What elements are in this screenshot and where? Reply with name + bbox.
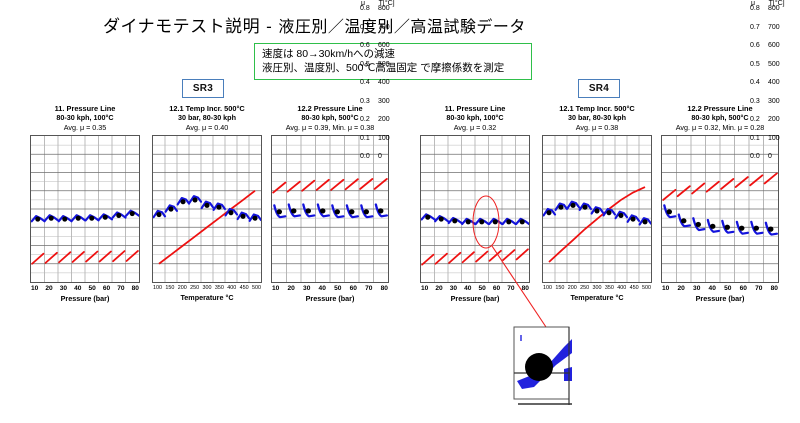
x-axis-label: Temperature °C — [542, 293, 652, 302]
temp-tick-label: 300 — [768, 98, 794, 106]
friction-data-marker — [240, 214, 245, 219]
friction-data-marker — [439, 216, 444, 221]
temperature-trace-segment — [46, 253, 57, 263]
chart-title-line-2: 30 bar, 80-30 kph — [542, 113, 652, 122]
mu-tick-label: 0.8 — [360, 5, 378, 13]
friction-data-marker — [89, 216, 94, 221]
friction-data-marker — [320, 208, 325, 213]
mu-tick-label: 0.6 — [750, 42, 768, 50]
temperature-trace-segment — [663, 190, 675, 200]
friction-data-marker — [49, 216, 54, 221]
temp-tick-label: 200 — [378, 116, 404, 124]
mu-tick-label: 0.1 — [360, 135, 378, 143]
friction-data-marker — [76, 216, 81, 221]
temp-tick-label: 800 — [768, 5, 794, 13]
chart-title-line-1: 12.1 Temp Incr. 500°C — [152, 104, 262, 113]
axis-legend-row: 0.1100 — [750, 135, 794, 143]
friction-data-marker — [425, 215, 430, 220]
mu-tick-label: 0.7 — [360, 24, 378, 32]
inset-blue-shape-secondary — [564, 367, 572, 381]
x-tick-label: 80 — [381, 285, 388, 292]
temperature-trace-segment — [73, 252, 84, 262]
chart-sr3-1: 11. Pressure Line80-30 kph, 100°CAvg. μ … — [30, 104, 140, 303]
axis-legend-row: 0.00 — [360, 153, 404, 161]
friction-data-marker — [725, 225, 730, 230]
x-tick-label: 200 — [568, 285, 577, 291]
x-axis-label: Pressure (bar) — [661, 294, 779, 303]
temperature-trace-segment — [86, 252, 97, 262]
axis-legend-rows: 0.88000.77000.66000.55000.44000.33000.22… — [360, 9, 404, 157]
temp-tick-label: 500 — [768, 61, 794, 69]
mu-tick-label: 0.3 — [750, 98, 768, 106]
temperature-trace-segment — [476, 252, 487, 262]
x-axis-ticks: 1020304050607080 — [271, 283, 389, 292]
friction-data-marker — [493, 219, 498, 224]
friction-data-marker — [506, 219, 511, 224]
temperature-trace-segment — [678, 186, 690, 196]
x-axis-label: Pressure (bar) — [420, 294, 530, 303]
x-tick-label: 500 — [252, 285, 261, 291]
x-tick-label: 450 — [240, 285, 249, 291]
mu-tick-label: 0.3 — [360, 98, 378, 106]
x-tick-label: 300 — [203, 285, 212, 291]
friction-data-marker — [364, 209, 369, 214]
friction-data-marker — [768, 227, 773, 232]
friction-data-marker — [252, 216, 257, 221]
friction-data-marker — [606, 210, 611, 215]
plot-area — [30, 135, 140, 283]
friction-data-marker — [103, 215, 108, 220]
chart-sr4-2: 12.1 Temp Incr. 500°C30 bar, 80-30 kphAv… — [542, 104, 652, 302]
x-tick-label: 50 — [89, 285, 96, 292]
x-tick-label: 30 — [60, 285, 67, 292]
temperature-trace-segment — [360, 179, 372, 189]
axis-legend-row: 0.4400 — [750, 79, 794, 87]
plot-canvas — [543, 136, 651, 282]
friction-data-marker — [180, 199, 185, 204]
friction-data-marker — [306, 208, 311, 213]
friction-data-marker — [710, 224, 715, 229]
friction-data-marker — [754, 226, 759, 231]
mu-tick-label: 0.5 — [360, 61, 378, 69]
friction-data-marker — [479, 219, 484, 224]
x-tick-label: 350 — [215, 285, 224, 291]
temperature-trace-segment — [113, 251, 124, 261]
axis-legend-row: 0.3300 — [360, 98, 404, 106]
temp-tick-label: 200 — [768, 116, 794, 124]
chart-stats: Avg. μ = 0.32 — [420, 123, 530, 133]
chart-title-line-1: 11. Pressure Line — [30, 104, 140, 113]
mu-tick-label: 0.7 — [750, 24, 768, 32]
friction-data-marker — [156, 212, 161, 217]
temperature-trace-segment — [100, 252, 111, 262]
mu-tick-label: 0.6 — [360, 42, 378, 50]
temperature-trace-segment — [375, 179, 387, 189]
friction-data-marker — [618, 213, 623, 218]
x-tick-label: 500 — [642, 285, 651, 291]
x-tick-label: 400 — [617, 285, 626, 291]
friction-data-marker — [216, 205, 221, 210]
axis-legend-row: 0.7700 — [360, 24, 404, 32]
x-tick-label: 10 — [662, 285, 669, 292]
x-tick-label: 400 — [227, 285, 236, 291]
axis-legend-row: 0.2200 — [360, 116, 404, 124]
friction-data-marker — [349, 209, 354, 214]
axis-legend-row: 0.6600 — [750, 42, 794, 50]
x-tick-label: 40 — [464, 285, 471, 292]
x-tick-label: 40 — [74, 285, 81, 292]
friction-data-marker — [681, 218, 686, 223]
axis-legend-row: 0.6600 — [360, 42, 404, 50]
temperature-trace-segment — [721, 179, 733, 189]
chart-title-line-2: 30 bar, 80-30 kph — [152, 113, 262, 122]
x-tick-label: 450 — [630, 285, 639, 291]
x-tick-label: 60 — [493, 285, 500, 292]
mu-tick-label: 0.0 — [750, 153, 768, 161]
temp-tick-label: 300 — [378, 98, 404, 106]
temp-tick-label: 100 — [378, 135, 404, 143]
axis-legend-row: 0.5500 — [360, 61, 404, 69]
slide-canvas: ダイナモテスト説明-液圧別／温度別／高温試験データ 速度は 80→30km/hへ… — [0, 0, 800, 423]
chart-header: 12.1 Temp Incr. 500°C30 bar, 80-30 kphAv… — [542, 104, 652, 133]
temperature-trace-segment — [346, 179, 358, 189]
mu-tick-label: 0.4 — [750, 79, 768, 87]
temp-tick-label: 500 — [378, 61, 404, 69]
x-tick-label: 50 — [479, 285, 486, 292]
temperature-trace-segment — [463, 252, 474, 262]
temp-tick-label: 100 — [768, 135, 794, 143]
friction-data-marker — [291, 208, 296, 213]
chart-sr4-1: 11. Pressure Line80-30 kph, 100°CAvg. μ … — [420, 104, 530, 303]
x-tick-label: 200 — [178, 285, 187, 291]
axis-legend-row: 0.7700 — [750, 24, 794, 32]
temperature-trace-segment — [765, 173, 777, 183]
x-tick-label: 60 — [350, 285, 357, 292]
friction-data-marker — [630, 216, 635, 221]
x-axis-ticks: 1020304050607080 — [420, 283, 530, 292]
x-tick-label: 40 — [319, 285, 326, 292]
brake-pad-detail-icon — [512, 325, 582, 417]
x-tick-label: 50 — [724, 285, 731, 292]
inset-hub-circle — [525, 353, 553, 381]
x-tick-label: 50 — [334, 285, 341, 292]
temperature-trace-segment — [331, 180, 343, 190]
friction-data-marker — [277, 209, 282, 214]
x-tick-label: 300 — [593, 285, 602, 291]
x-tick-label: 70 — [507, 285, 514, 292]
temperature-trace-segment — [288, 182, 300, 192]
friction-data-marker — [228, 210, 233, 215]
temperature-trace-segment — [736, 177, 748, 187]
plot-canvas — [421, 136, 529, 282]
mu-tick-label: 0.8 — [750, 5, 768, 13]
temperature-trace-segment — [59, 252, 70, 262]
temperature-trace-segment — [517, 249, 528, 259]
temp-tick-label: 800 — [378, 5, 404, 13]
mu-tick-label: 0.4 — [360, 79, 378, 87]
sample-tag-sr3: SR3 — [182, 79, 224, 98]
mu-tick-label: 0.0 — [360, 153, 378, 161]
temp-tick-label: 0 — [768, 153, 794, 161]
x-tick-label: 30 — [450, 285, 457, 292]
chart-header: 11. Pressure Line80-30 kph, 100°CAvg. μ … — [30, 104, 140, 133]
x-axis-ticks: 1020304050607080 — [661, 283, 779, 292]
x-axis-label: Pressure (bar) — [271, 294, 389, 303]
chart-header: 12.1 Temp Incr. 500°C30 bar, 80-30 kphAv… — [152, 104, 262, 133]
mu-tick-label: 0.2 — [750, 116, 768, 124]
friction-data-marker — [594, 208, 599, 213]
x-tick-label: 80 — [771, 285, 778, 292]
plot-canvas — [153, 136, 261, 282]
friction-data-marker — [546, 210, 551, 215]
friction-data-marker — [192, 197, 197, 202]
friction-data-marker — [466, 219, 471, 224]
x-axis-ticks: 100150200250300350400450500 — [152, 283, 262, 291]
friction-data-marker — [204, 203, 209, 208]
x-tick-label: 20 — [435, 285, 442, 292]
x-tick-label: 150 — [165, 285, 174, 291]
temperature-trace-segment — [436, 254, 447, 264]
chart-stats: Avg. μ = 0.40 — [152, 123, 262, 133]
temperature-trace-segment — [422, 255, 433, 265]
x-tick-label: 60 — [103, 285, 110, 292]
friction-data-marker — [168, 206, 173, 211]
x-axis-label: Pressure (bar) — [30, 294, 140, 303]
chart-title-line-1: 12.1 Temp Incr. 500°C — [542, 104, 652, 113]
x-tick-label: 350 — [605, 285, 614, 291]
axis-legend-row: 0.8800 — [750, 5, 794, 13]
x-tick-label: 250 — [580, 285, 589, 291]
friction-data-marker — [558, 205, 563, 210]
y-axis-legend-sr4: μT[°C]0.88000.77000.66000.55000.44000.33… — [750, 0, 794, 157]
x-tick-label: 100 — [543, 285, 552, 291]
temperature-trace-segment — [692, 183, 704, 193]
axis-legend-row: 0.4400 — [360, 79, 404, 87]
temperature-trace-segment — [750, 175, 762, 185]
temperature-trace-segment — [317, 180, 329, 190]
chart-title-line-1: 11. Pressure Line — [420, 104, 530, 113]
chart-stats: Avg. μ = 0.35 — [30, 123, 140, 133]
friction-data-marker — [642, 219, 647, 224]
temperature-trace — [549, 187, 645, 262]
temperature-trace-segment — [449, 253, 460, 263]
axis-legend-row: 0.3300 — [750, 98, 794, 106]
plot-area — [542, 135, 652, 283]
temperature-trace-segment — [503, 250, 514, 260]
x-tick-label: 70 — [755, 285, 762, 292]
chart-header: 11. Pressure Line80-30 kph, 100°CAvg. μ … — [420, 104, 530, 133]
friction-data-marker — [570, 203, 575, 208]
temp-tick-label: 400 — [378, 79, 404, 87]
x-axis-ticks: 1020304050607080 — [30, 283, 140, 292]
chart-title-line-2: 80-30 kph, 100°C — [30, 113, 140, 122]
friction-data-marker — [452, 218, 457, 223]
friction-data-marker — [667, 209, 672, 214]
page-title-separator: - — [260, 17, 278, 36]
friction-data-marker — [520, 219, 525, 224]
friction-data-marker — [378, 208, 383, 213]
detail-inset-diagram — [512, 325, 582, 417]
x-tick-label: 80 — [522, 285, 529, 292]
axis-legend-row: 0.2200 — [750, 116, 794, 124]
x-axis-label: Temperature °C — [152, 293, 262, 302]
temp-tick-label: 700 — [768, 24, 794, 32]
temperature-trace-segment — [127, 251, 138, 261]
friction-data-marker — [582, 205, 587, 210]
x-tick-label: 20 — [678, 285, 685, 292]
x-tick-label: 10 — [272, 285, 279, 292]
friction-data-marker — [739, 226, 744, 231]
page-title: ダイナモテスト説明-液圧別／温度別／高温試験データ — [103, 12, 526, 37]
x-tick-label: 70 — [365, 285, 372, 292]
temp-tick-label: 400 — [768, 79, 794, 87]
temp-tick-label: 600 — [378, 42, 404, 50]
axis-legend-row: 0.5500 — [750, 61, 794, 69]
temperature-trace-segment — [490, 251, 501, 261]
temperature-trace-segment — [707, 182, 719, 192]
temp-tick-label: 700 — [378, 24, 404, 32]
temp-tick-label: 0 — [378, 153, 404, 161]
axis-legend-row: 0.00 — [750, 153, 794, 161]
mu-tick-label: 0.1 — [750, 135, 768, 143]
axis-legend-rows: 0.88000.77000.66000.55000.44000.33000.22… — [750, 9, 794, 157]
mu-tick-label: 0.2 — [360, 116, 378, 124]
x-axis-ticks: 100150200250300350400450500 — [542, 283, 652, 291]
friction-data-marker — [696, 222, 701, 227]
x-tick-label: 40 — [709, 285, 716, 292]
x-tick-label: 150 — [555, 285, 564, 291]
friction-data-marker — [335, 209, 340, 214]
x-tick-label: 30 — [303, 285, 310, 292]
x-tick-label: 250 — [190, 285, 199, 291]
temperature-trace-segment — [302, 181, 314, 191]
page-title-main: ダイナモテスト説明 — [103, 17, 260, 36]
temperature-trace-segment — [32, 254, 43, 264]
x-tick-label: 80 — [132, 285, 139, 292]
x-tick-label: 10 — [31, 285, 38, 292]
temp-tick-label: 600 — [768, 42, 794, 50]
axis-legend-row: 0.8800 — [360, 5, 404, 13]
x-tick-label: 10 — [421, 285, 428, 292]
plot-canvas — [31, 136, 139, 282]
x-tick-label: 20 — [45, 285, 52, 292]
mu-tick-label: 0.5 — [750, 61, 768, 69]
plot-area — [152, 135, 262, 283]
x-tick-label: 100 — [153, 285, 162, 291]
axis-legend-row: 0.1100 — [360, 135, 404, 143]
chart-title-line-2: 80-30 kph, 100°C — [420, 113, 530, 122]
friction-data-marker — [62, 216, 67, 221]
friction-data-marker — [130, 211, 135, 216]
chart-sr3-2: 12.1 Temp Incr. 500°C30 bar, 80-30 kphAv… — [152, 104, 262, 302]
y-axis-legend-sr3: μT[°C]0.88000.77000.66000.55000.44000.33… — [360, 0, 404, 157]
chart-stats: Avg. μ = 0.38 — [542, 123, 652, 133]
x-tick-label: 70 — [117, 285, 124, 292]
friction-data-marker — [116, 213, 121, 218]
x-tick-label: 30 — [693, 285, 700, 292]
friction-data-marker — [35, 216, 40, 221]
x-tick-label: 20 — [288, 285, 295, 292]
x-tick-label: 60 — [740, 285, 747, 292]
sample-tag-sr4: SR4 — [578, 79, 620, 98]
plot-area — [420, 135, 530, 283]
